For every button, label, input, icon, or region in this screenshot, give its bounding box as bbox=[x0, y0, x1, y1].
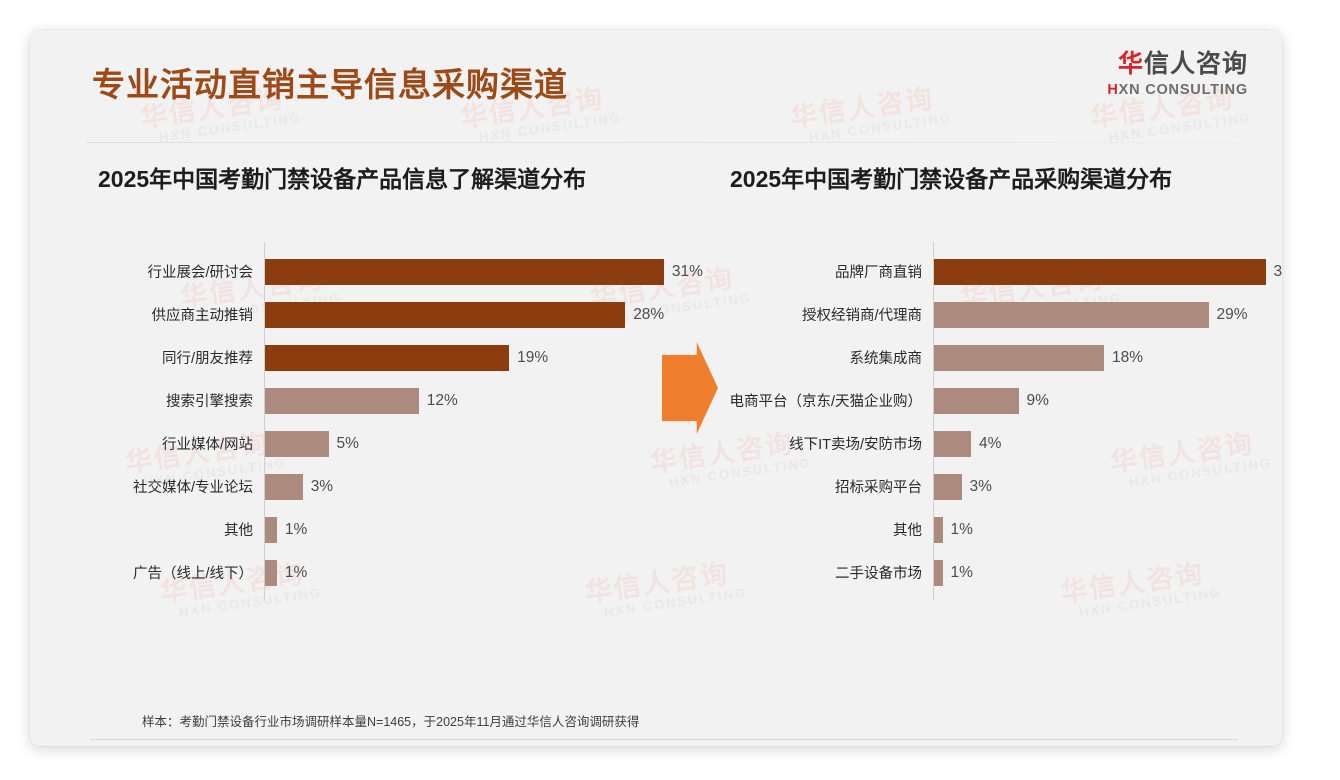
bar bbox=[933, 259, 1266, 285]
logo-english: HXN CONSULTING bbox=[1107, 83, 1248, 98]
bar-row: 行业展会/研讨会31% bbox=[70, 250, 710, 293]
bar-track: 1% bbox=[933, 517, 1270, 543]
bar bbox=[264, 388, 419, 414]
bar-row: 二手设备市场1% bbox=[720, 551, 1270, 594]
bar-row: 招标采购平台3% bbox=[720, 465, 1270, 508]
bar-rows-left: 行业展会/研讨会31%供应商主动推销28%同行/朋友推荐19%搜索引擎搜索12%… bbox=[70, 250, 710, 594]
bar-row: 行业媒体/网站5% bbox=[70, 422, 710, 465]
bar bbox=[933, 474, 962, 500]
chart-panel-left: 2025年中国考勤门禁设备产品信息了解渠道分布 行业展会/研讨会31%供应商主动… bbox=[70, 160, 710, 594]
bar-row: 电商平台（京东/天猫企业购）9% bbox=[720, 379, 1270, 422]
bar-category-label: 行业媒体/网站 bbox=[70, 433, 264, 454]
footer-divider bbox=[90, 739, 1238, 740]
bar bbox=[933, 517, 943, 543]
bar-category-label: 行业展会/研讨会 bbox=[70, 261, 264, 282]
bar bbox=[264, 560, 277, 586]
bar-category-label: 同行/朋友推荐 bbox=[70, 347, 264, 368]
logo-chinese: 华信人咨询 bbox=[1107, 52, 1248, 77]
bar-row: 社交媒体/专业论坛3% bbox=[70, 465, 710, 508]
bar-category-label: 其他 bbox=[70, 519, 264, 540]
bar-row: 线下IT卖场/安防市场4% bbox=[720, 422, 1270, 465]
bar-category-label: 广告（线上/线下） bbox=[70, 562, 264, 583]
bar-row: 广告（线上/线下）1% bbox=[70, 551, 710, 594]
bar-value-label: 3% bbox=[311, 478, 333, 496]
bar bbox=[264, 474, 303, 500]
plot-left: 行业展会/研讨会31%供应商主动推销28%同行/朋友推荐19%搜索引擎搜索12%… bbox=[70, 250, 710, 594]
bar-category-label: 电商平台（京东/天猫企业购） bbox=[720, 390, 933, 411]
bar-category-label: 品牌厂商直销 bbox=[720, 261, 933, 282]
bar-value-label: 29% bbox=[1217, 306, 1248, 324]
bar-value-label: 12% bbox=[427, 392, 458, 410]
chart-panel-right: 2025年中国考勤门禁设备产品采购渠道分布 品牌厂商直销35%授权经销商/代理商… bbox=[720, 160, 1270, 594]
bar-value-label: 5% bbox=[337, 435, 359, 453]
bar-category-label: 二手设备市场 bbox=[720, 562, 933, 583]
bar-category-label: 社交媒体/专业论坛 bbox=[70, 476, 264, 497]
bar-value-label: 4% bbox=[979, 435, 1001, 453]
bar-value-label: 3% bbox=[970, 478, 992, 496]
bar bbox=[264, 345, 509, 371]
bar-track: 28% bbox=[264, 302, 710, 328]
bar-row: 搜索引擎搜索12% bbox=[70, 379, 710, 422]
bar-category-label: 招标采购平台 bbox=[720, 476, 933, 497]
bar-value-label: 1% bbox=[285, 564, 307, 582]
bar-row: 系统集成商18% bbox=[720, 336, 1270, 379]
bar-track: 5% bbox=[264, 431, 710, 457]
axis-line-left bbox=[264, 242, 265, 600]
bar-track: 9% bbox=[933, 388, 1270, 414]
bar-value-label: 19% bbox=[517, 349, 548, 367]
axis-line-right bbox=[933, 242, 934, 600]
bar-rows-right: 品牌厂商直销35%授权经销商/代理商29%系统集成商18%电商平台（京东/天猫企… bbox=[720, 250, 1270, 594]
bar-track: 1% bbox=[264, 517, 710, 543]
bar-track: 31% bbox=[264, 259, 710, 285]
bar bbox=[933, 302, 1209, 328]
page-title: 专业活动直销主导信息采购渠道 bbox=[92, 58, 568, 106]
bar-value-label: 1% bbox=[951, 564, 973, 582]
bar bbox=[933, 345, 1104, 371]
bar-track: 4% bbox=[933, 431, 1270, 457]
bar-row: 供应商主动推销28% bbox=[70, 293, 710, 336]
bar bbox=[264, 302, 625, 328]
bar-row: 授权经销商/代理商29% bbox=[720, 293, 1270, 336]
bar bbox=[933, 560, 943, 586]
slide-header: 专业活动直销主导信息采购渠道 华信人咨询 HXN CONSULTING bbox=[30, 30, 1282, 130]
bar-track: 1% bbox=[933, 560, 1270, 586]
bar bbox=[264, 517, 277, 543]
bar-category-label: 系统集成商 bbox=[720, 347, 933, 368]
bar-track: 3% bbox=[933, 474, 1270, 500]
bar-row: 品牌厂商直销35% bbox=[720, 250, 1270, 293]
brand-logo: 华信人咨询 HXN CONSULTING bbox=[1107, 52, 1248, 98]
bar bbox=[264, 431, 329, 457]
logo-english-accent: H bbox=[1107, 82, 1118, 98]
bar-value-label: 31% bbox=[672, 263, 703, 281]
bar-value-label: 9% bbox=[1027, 392, 1049, 410]
bar-track: 3% bbox=[264, 474, 710, 500]
logo-english-rest: XN CONSULTING bbox=[1119, 82, 1248, 98]
logo-chinese-accent: 华 bbox=[1118, 50, 1144, 78]
bar-row: 同行/朋友推荐19% bbox=[70, 336, 710, 379]
bar-category-label: 授权经销商/代理商 bbox=[720, 304, 933, 325]
charts-region: 2025年中国考勤门禁设备产品信息了解渠道分布 行业展会/研讨会31%供应商主动… bbox=[30, 160, 1282, 680]
bar-category-label: 线下IT卖场/安防市场 bbox=[720, 433, 933, 454]
bar-row: 其他1% bbox=[720, 508, 1270, 551]
bar-value-label: 1% bbox=[285, 521, 307, 539]
bar bbox=[264, 259, 664, 285]
bar-value-label: 18% bbox=[1112, 349, 1143, 367]
bar-track: 1% bbox=[264, 560, 710, 586]
bar bbox=[933, 388, 1019, 414]
bar-track: 12% bbox=[264, 388, 710, 414]
bar-row: 其他1% bbox=[70, 508, 710, 551]
bar-value-label: 35% bbox=[1274, 263, 1283, 281]
chart-title-right: 2025年中国考勤门禁设备产品采购渠道分布 bbox=[730, 160, 1270, 194]
bar-value-label: 1% bbox=[951, 521, 973, 539]
bar-category-label: 供应商主动推销 bbox=[70, 304, 264, 325]
bar-track: 29% bbox=[933, 302, 1270, 328]
bar-category-label: 其他 bbox=[720, 519, 933, 540]
logo-chinese-rest: 信人咨询 bbox=[1144, 50, 1248, 78]
bar-value-label: 28% bbox=[633, 306, 664, 324]
bar-track: 18% bbox=[933, 345, 1270, 371]
bar-track: 35% bbox=[933, 259, 1270, 285]
sample-footnote: 样本：考勤门禁设备行业市场调研样本量N=1465，于2025年11月通过华信人咨… bbox=[142, 711, 639, 730]
header-divider bbox=[86, 142, 1244, 143]
plot-right: 品牌厂商直销35%授权经销商/代理商29%系统集成商18%电商平台（京东/天猫企… bbox=[720, 250, 1270, 594]
slide-card: 华信人咨询HXN CONSULTING华信人咨询HXN CONSULTING华信… bbox=[30, 30, 1282, 746]
bar-category-label: 搜索引擎搜索 bbox=[70, 390, 264, 411]
chart-title-left: 2025年中国考勤门禁设备产品信息了解渠道分布 bbox=[98, 160, 710, 194]
bar-track: 19% bbox=[264, 345, 710, 371]
bar bbox=[933, 431, 971, 457]
